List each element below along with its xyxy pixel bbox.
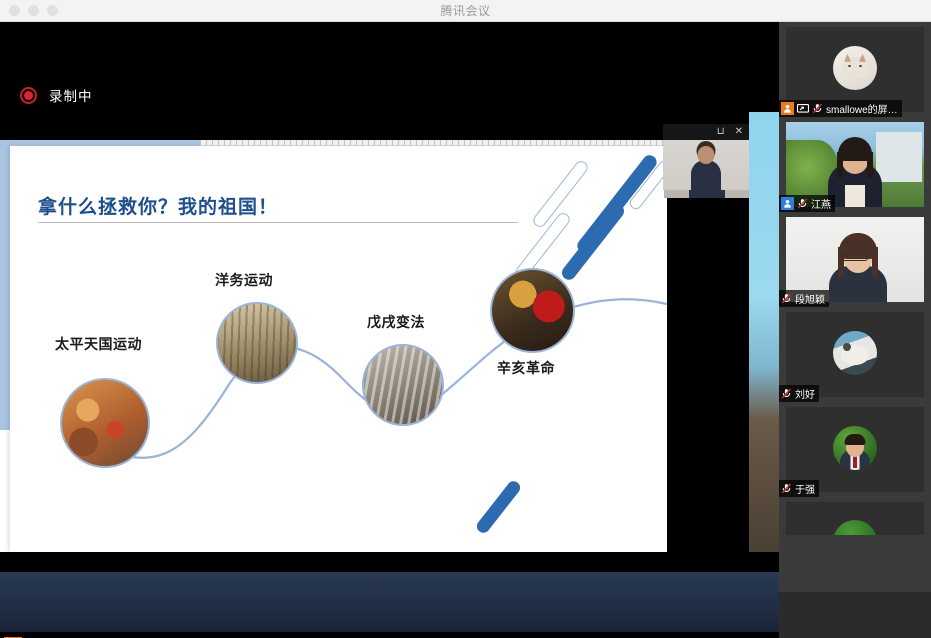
timeline-node-3-label: 戊戌变法 — [367, 312, 425, 332]
timeline-node-1 — [60, 378, 150, 468]
remote-desktop-wallpaper — [749, 112, 779, 552]
window-title: 腾讯会议 — [0, 2, 931, 19]
recording-indicator[interactable]: 录制中 — [20, 85, 93, 105]
participant-name: 刘好 — [795, 386, 815, 401]
mic-muted-icon — [781, 483, 792, 494]
timeline-node-1-label: 太平天国运动 — [55, 334, 142, 354]
timeline-node-3 — [362, 344, 444, 426]
mic-muted-icon — [781, 293, 792, 304]
participant-tile[interactable]: 江燕 — [779, 117, 931, 212]
background-app-window — [663, 232, 749, 552]
participant-name: 江燕 — [811, 196, 831, 211]
man-avatar — [833, 426, 877, 470]
participant-badges: 刘好 — [779, 385, 819, 402]
participant-name: 于强 — [795, 481, 815, 496]
participant-tile[interactable]: 刘好 — [779, 307, 931, 402]
participant-rail[interactable]: smallowe的屏… — [779, 22, 931, 638]
stage-lower-wallpaper — [0, 572, 779, 632]
deco-bar-6 — [474, 479, 522, 536]
participant-name: smallowe的屏… — [826, 101, 898, 116]
meeting-stage: 录制中 快剪辑 拿什么拯救你？我的祖国！ — [0, 22, 779, 638]
slide-title-rule — [38, 222, 518, 223]
mic-muted-icon — [797, 198, 808, 209]
participant-badges: 段旭颖 — [779, 290, 829, 307]
slide-canvas: 拿什么拯救你？我的祖国！ 太平天国运动 — [10, 146, 667, 552]
participant-badges: smallowe的屏… — [779, 100, 902, 117]
floating-video-window[interactable]: ⊔ ✕ — [663, 124, 749, 190]
timeline-node-4 — [490, 268, 575, 353]
participant-tile[interactable] — [779, 497, 931, 592]
cat-avatar — [833, 46, 877, 90]
user-badge-icon — [781, 197, 794, 210]
floating-video-head — [698, 146, 715, 164]
participant-video — [786, 502, 924, 535]
screen-share-icon — [797, 104, 809, 114]
powerpoint-slide: 拿什么拯救你？我的祖国！ 太平天国运动 — [0, 140, 667, 552]
mic-muted-icon — [812, 103, 823, 114]
background-app-window-lower — [663, 552, 779, 574]
participant-tile[interactable]: smallowe的屏… — [779, 22, 931, 117]
cat-avatar — [833, 331, 877, 375]
presenter-share-bar: smallowe的屏幕共享 — [0, 632, 779, 638]
tencent-meeting-window: 腾讯会议 录制中 快剪辑 拿什么拯救 — [0, 0, 931, 638]
participant-tile[interactable]: 段旭颖 — [779, 212, 931, 307]
slide-title: 拿什么拯救你？我的祖国！ — [38, 192, 278, 219]
floating-video-feed — [663, 140, 749, 190]
participant-badges: 江燕 — [779, 195, 835, 212]
recording-label: 录制中 — [49, 85, 93, 105]
floating-minimize-button[interactable]: ⊔ — [717, 127, 725, 137]
deco-bar-2 — [559, 201, 627, 282]
floating-video-body — [691, 160, 721, 190]
recording-dot-icon — [20, 87, 37, 104]
shared-screen-view[interactable]: 快剪辑 拿什么拯救你？我的祖国！ — [0, 112, 779, 574]
participant-tile[interactable]: 于强 — [779, 402, 931, 497]
mic-muted-icon — [781, 388, 792, 399]
participant-name: 段旭颖 — [795, 291, 825, 306]
window-titlebar: 腾讯会议 — [0, 0, 931, 22]
slide-meander-border — [200, 140, 667, 146]
host-badge-icon — [781, 102, 794, 115]
participant-badges: 于强 — [779, 480, 819, 497]
timeline-node-2-label: 洋务运动 — [215, 270, 273, 290]
floating-video-titlebar: ⊔ ✕ — [663, 124, 749, 140]
timeline-node-4-label: 辛亥革命 — [497, 358, 555, 378]
floating-close-button[interactable]: ✕ — [735, 127, 743, 137]
timeline-node-2 — [216, 302, 298, 384]
green-avatar — [833, 520, 877, 535]
